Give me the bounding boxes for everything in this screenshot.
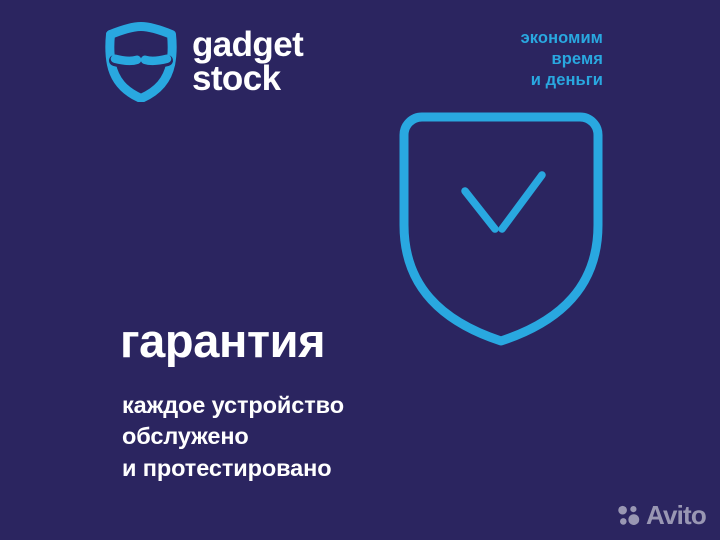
body-copy-line-3: и протестировано [122,453,344,484]
tagline-line-2: время [521,49,603,70]
page-title: гарантия [120,316,325,365]
body-copy-line-1: каждое устройство [122,390,344,421]
body-copy: каждое устройство обслужено и протестиро… [122,390,344,484]
avito-wordmark: Avito [646,502,706,528]
tagline-line-1: экономим [521,28,603,49]
avito-dots-icon [617,503,642,528]
brand-name-line2: stock [192,62,303,96]
tagline-line-3: и деньги [521,70,603,91]
body-copy-line-2: обслужено [122,421,344,452]
brand-lockup: gadget stock [104,22,303,102]
shield-s-monogram-icon [104,22,178,102]
brand-wordmark: gadget stock [192,28,303,96]
tagline: экономим время и деньги [521,28,603,91]
promo-banner: gadget stock экономим время и деньги гар… [0,0,720,540]
shield-checkmark-icon [392,107,610,349]
avito-watermark: Avito [617,502,706,528]
brand-name-line1: gadget [192,28,303,62]
